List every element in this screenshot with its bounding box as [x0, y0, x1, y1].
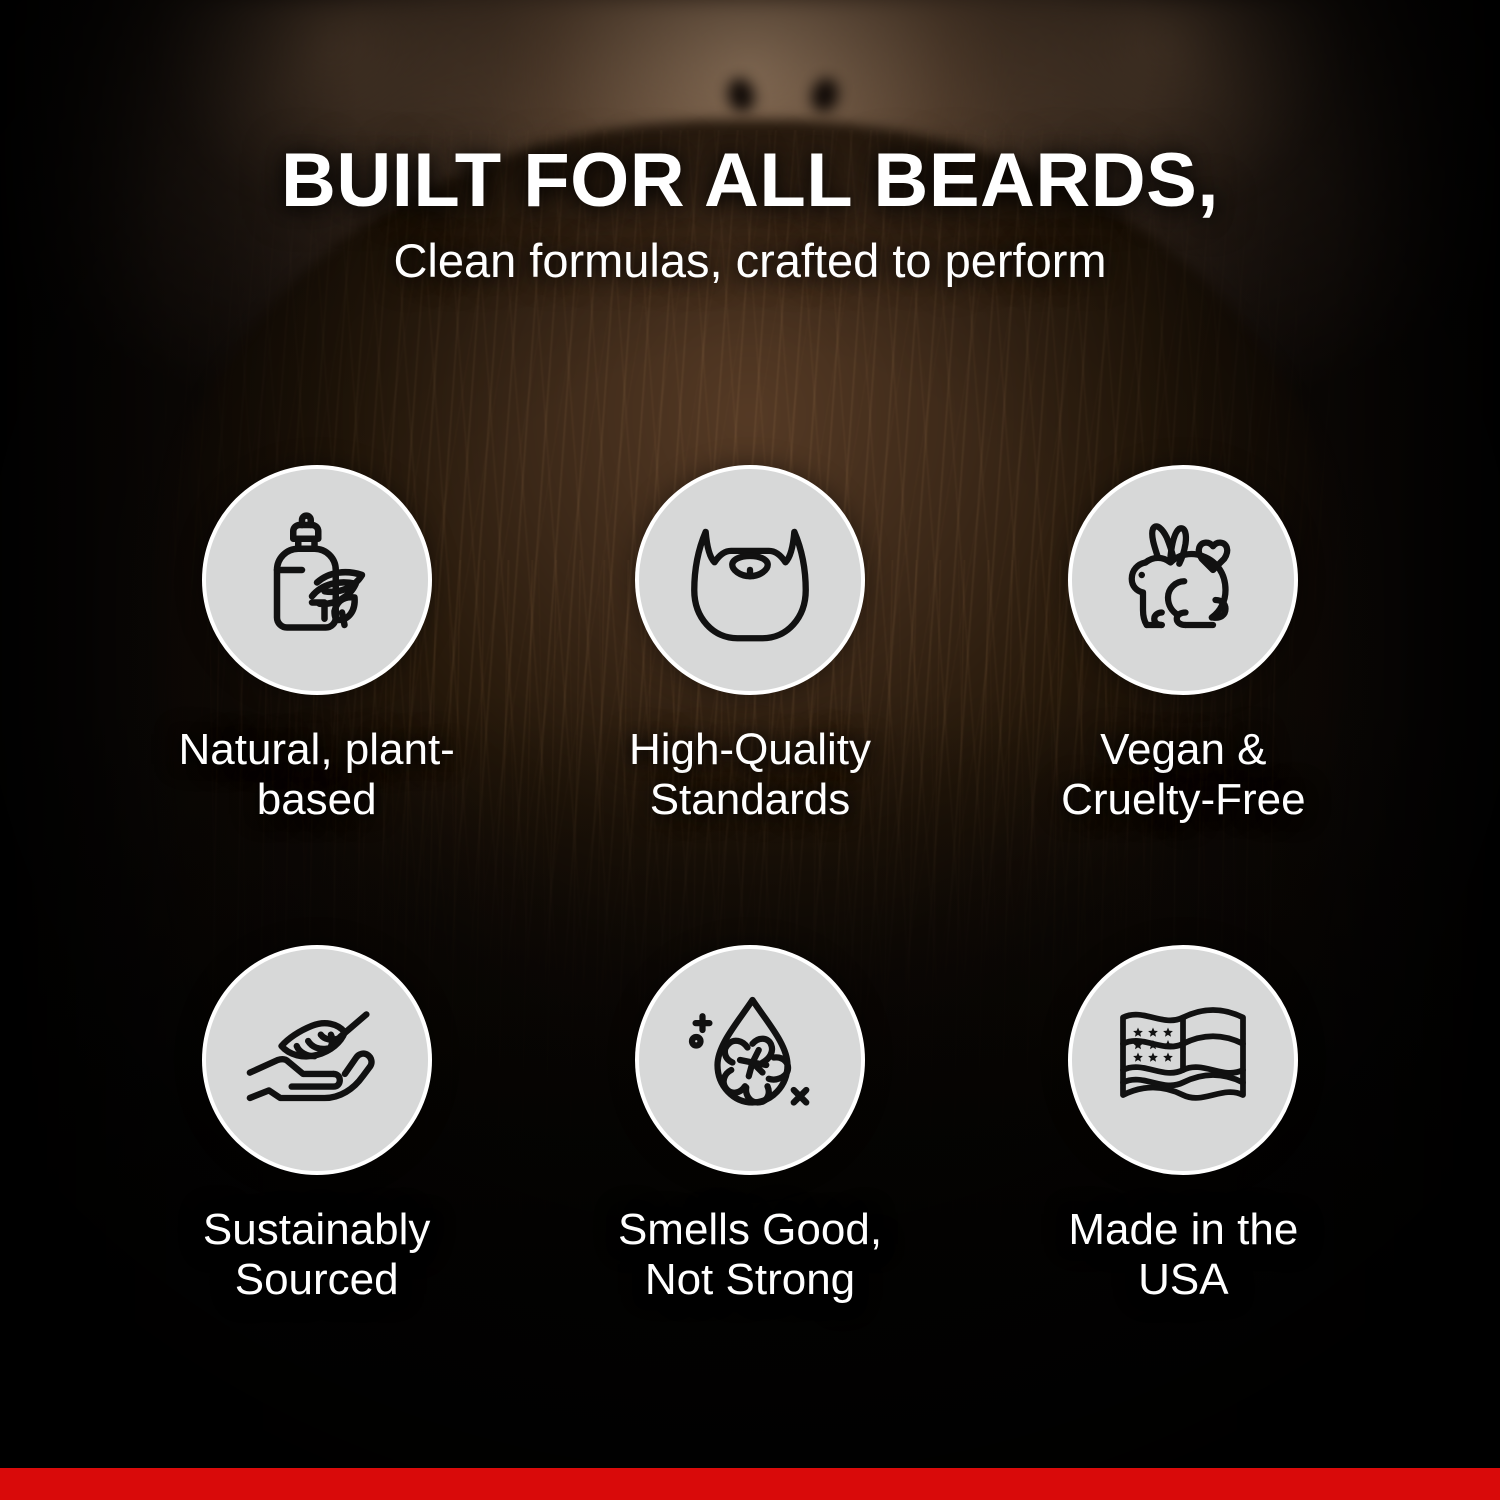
- headline: BUILT FOR ALL BEARDS,: [0, 142, 1500, 220]
- banner-heading-block: BUILT FOR ALL BEARDS, Clean formulas, cr…: [0, 142, 1500, 285]
- usa-flag-icon: [1108, 985, 1258, 1135]
- droplet-flower-sparkle-icon: [675, 985, 825, 1135]
- feature-item-made-in-usa: Made in the USA: [967, 945, 1400, 1425]
- feature-label: Vegan & Cruelty-Free: [1061, 725, 1306, 825]
- dropper-bottle-leaves-icon: [242, 505, 392, 655]
- feature-label: Sustainably Sourced: [203, 1205, 430, 1305]
- feature-badge: [202, 465, 432, 695]
- hand-feather-icon: [241, 984, 393, 1136]
- feature-item-natural-plant-based: Natural, plant- based: [100, 465, 533, 945]
- feature-label: Smells Good, Not Strong: [618, 1205, 882, 1305]
- feature-item-sustainably-sourced: Sustainably Sourced: [100, 945, 533, 1425]
- feature-label: Natural, plant- based: [178, 725, 454, 825]
- feature-grid: Natural, plant- based High-Quality Stand…: [100, 465, 1400, 1425]
- promo-banner: BUILT FOR ALL BEARDS, Clean formulas, cr…: [0, 0, 1500, 1500]
- feature-item-vegan-cruelty-free: Vegan & Cruelty-Free: [967, 465, 1400, 945]
- feature-badge: [1068, 945, 1298, 1175]
- rabbit-heart-icon: [1108, 505, 1258, 655]
- feature-badge: [1068, 465, 1298, 695]
- feature-badge: [202, 945, 432, 1175]
- feature-label: High-Quality Standards: [629, 725, 871, 825]
- feature-label: Made in the USA: [1068, 1205, 1298, 1305]
- bottom-accent-bar: [0, 1468, 1500, 1500]
- feature-badge: [635, 465, 865, 695]
- beard-outline-icon: [674, 504, 826, 656]
- feature-badge: [635, 945, 865, 1175]
- feature-item-smells-good-not-strong: Smells Good, Not Strong: [533, 945, 966, 1425]
- feature-item-high-quality-standards: High-Quality Standards: [533, 465, 966, 945]
- subheadline: Clean formulas, crafted to perform: [0, 236, 1500, 285]
